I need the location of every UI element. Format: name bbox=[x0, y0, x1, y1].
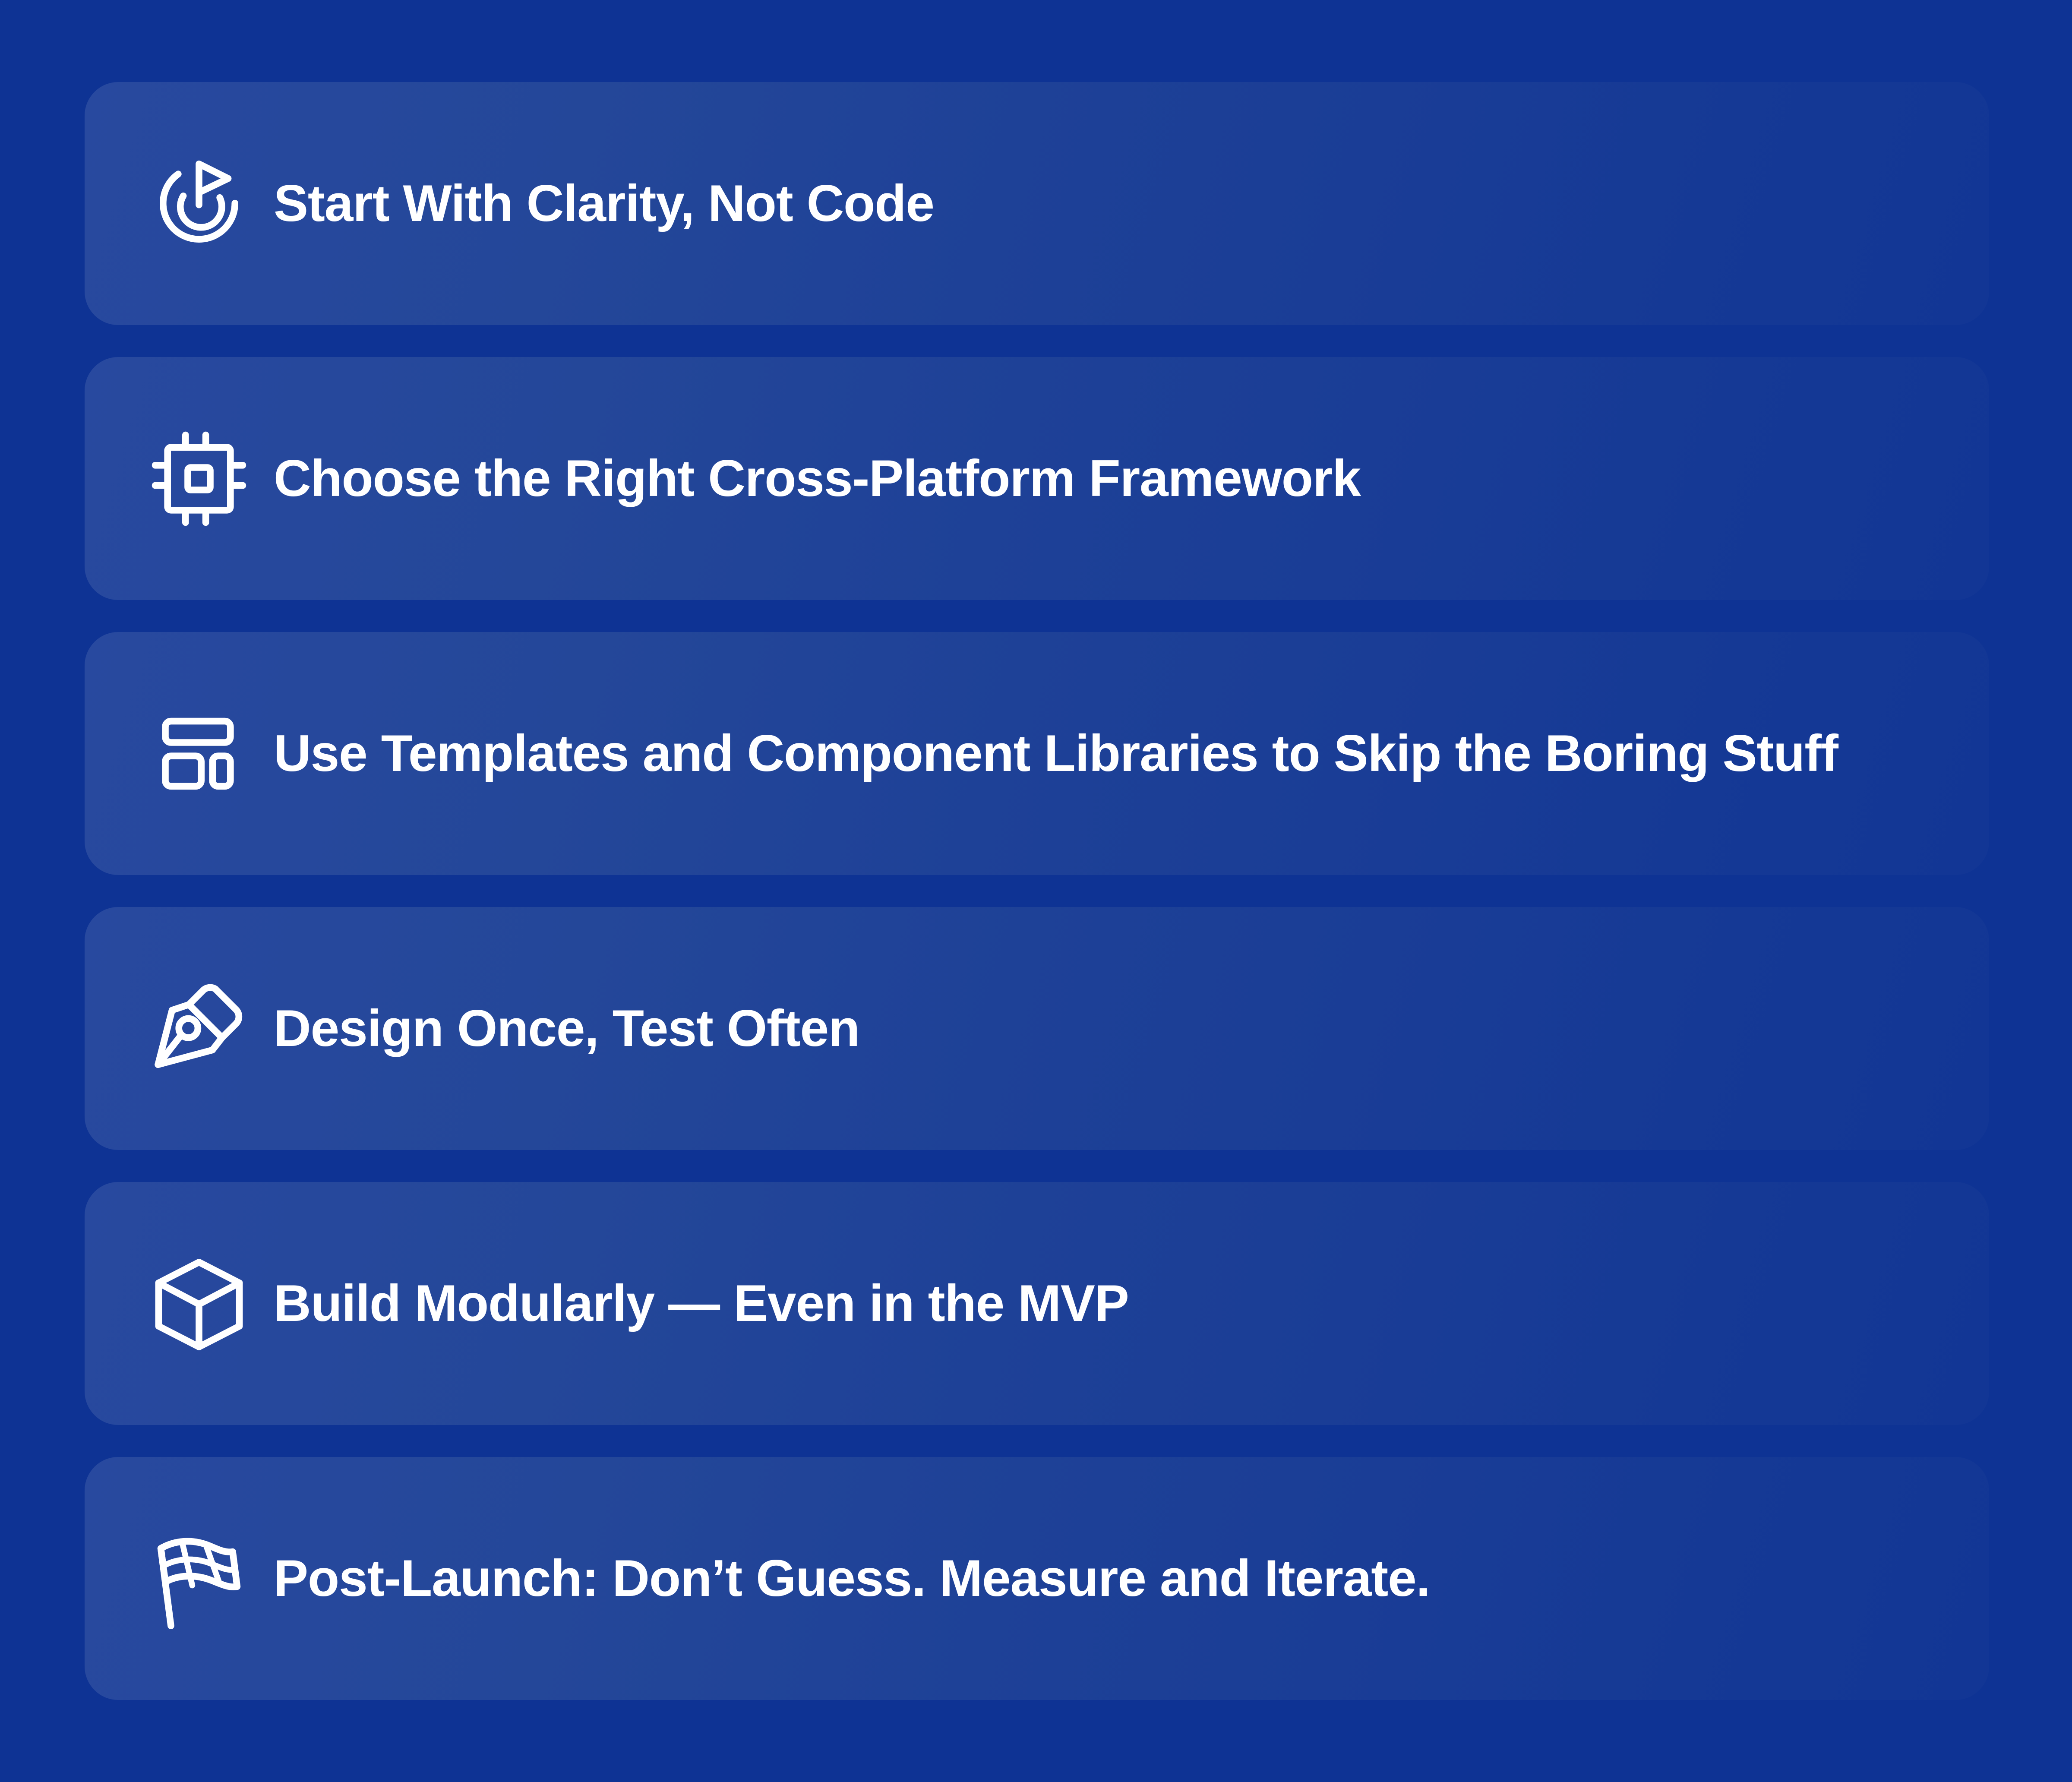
checklist-card[interactable]: Post-Launch: Don’t Guess. Measure and It… bbox=[85, 1457, 1989, 1700]
checklist-card-label: Start With Clarity, Not Code bbox=[274, 174, 1989, 232]
checklist-board: Start With Clarity, Not Code Choose the … bbox=[0, 0, 2072, 1782]
checklist-card[interactable]: Choose the Right Cross-Platform Framewor… bbox=[85, 357, 1989, 600]
cube-box-icon bbox=[136, 1241, 262, 1366]
checklist-card-label: Post-Launch: Don’t Guess. Measure and It… bbox=[274, 1549, 1989, 1607]
checklist-card[interactable]: Design Once, Test Often bbox=[85, 907, 1989, 1150]
checkered-flag-icon bbox=[136, 1516, 262, 1641]
checklist-card[interactable]: Use Templates and Component Libraries to… bbox=[85, 632, 1989, 875]
target-flag-icon bbox=[136, 141, 262, 266]
checklist-card[interactable]: Build Modularly — Even in the MVP bbox=[85, 1182, 1989, 1425]
checklist-card-label: Design Once, Test Often bbox=[274, 999, 1989, 1057]
cpu-chip-icon bbox=[136, 416, 262, 541]
checklist-card-label: Use Templates and Component Libraries to… bbox=[274, 724, 1989, 782]
checklist-card[interactable]: Start With Clarity, Not Code bbox=[85, 82, 1989, 325]
checklist-card-label: Build Modularly — Even in the MVP bbox=[274, 1274, 1989, 1332]
pen-nib-icon bbox=[136, 966, 262, 1091]
checklist-card-label: Choose the Right Cross-Platform Framewor… bbox=[274, 449, 1989, 507]
layout-template-icon bbox=[136, 691, 262, 816]
